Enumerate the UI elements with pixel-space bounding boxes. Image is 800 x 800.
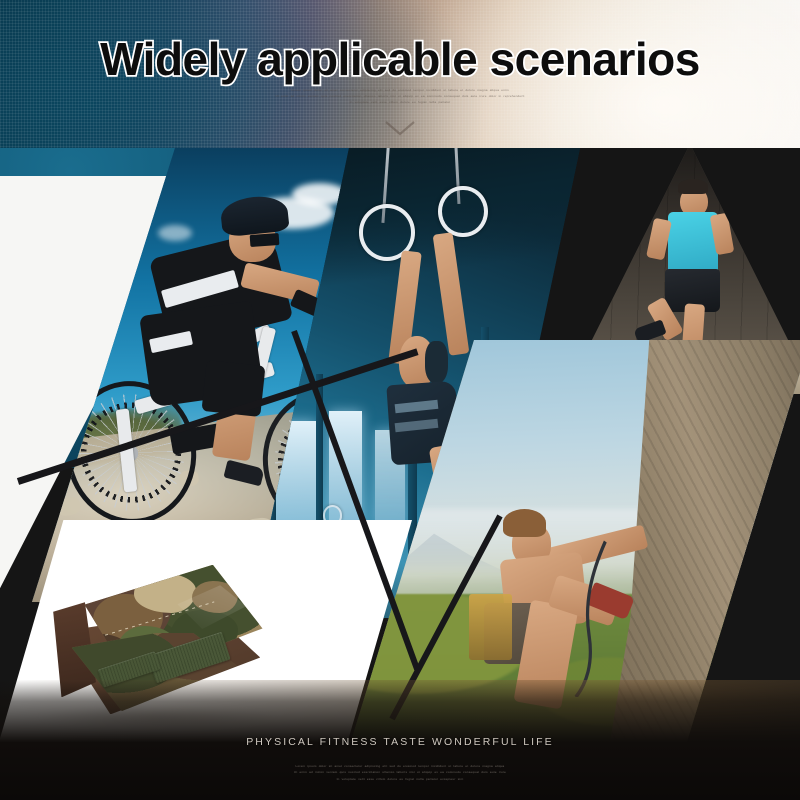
header-banner: Widely applicable scenarios Lorem ipsum …: [0, 0, 800, 150]
footer-footnote-line: In voluptate velit esse cillum dolore eu…: [180, 776, 620, 782]
header-subtext: Lorem ipsum dolor sit amet consectetur a…: [190, 88, 610, 106]
grass-tuft: [569, 279, 611, 301]
gym-ring: [438, 186, 488, 238]
chevron-down-icon: [380, 118, 420, 138]
promo-banner: Widely applicable scenarios Lorem ipsum …: [0, 0, 800, 800]
climber-harness: [469, 594, 512, 660]
footer-tagline: PHYSICAL FITNESS TASTE WONDERFUL LIFE: [0, 736, 800, 748]
footer-footnote: Lorem ipsum dolor sit amet consectetur a…: [180, 763, 620, 782]
page-title: Widely applicable scenarios: [0, 32, 800, 86]
header-subtext-line: In voluptate velit esse cillum dolore eu…: [190, 100, 610, 106]
climbing-rope: [522, 528, 656, 697]
athlete-headphones: [425, 341, 448, 383]
